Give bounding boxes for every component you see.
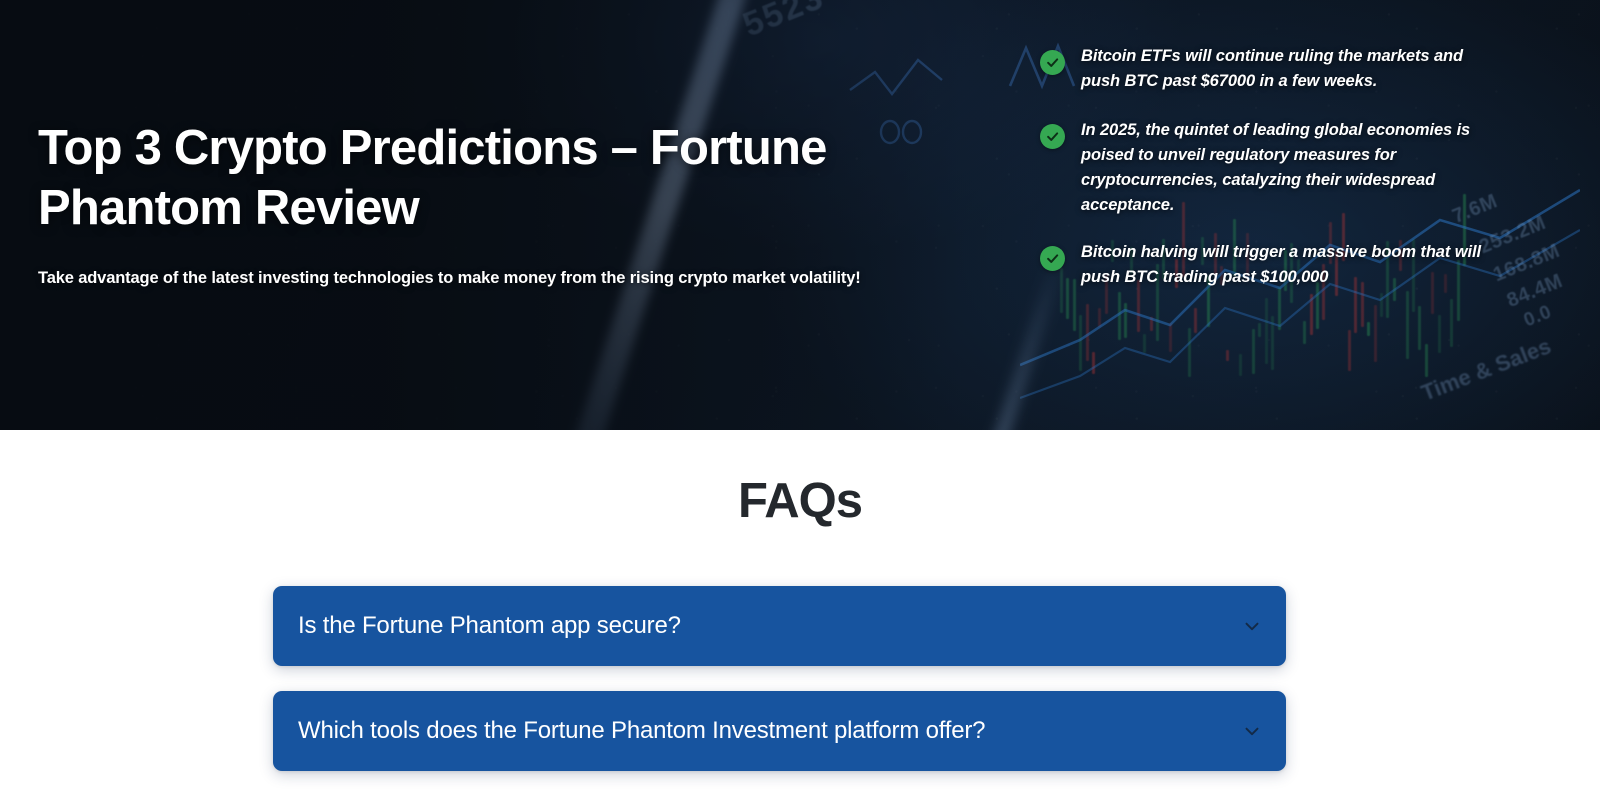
chevron-down-icon[interactable] <box>1239 613 1265 639</box>
check-circle-icon <box>1040 50 1065 75</box>
list-item: Bitcoin ETFs will continue ruling the ma… <box>1040 44 1560 94</box>
chevron-down-icon[interactable] <box>1239 718 1265 744</box>
prediction-text: In 2025, the quintet of leading global e… <box>1081 118 1481 218</box>
faq-accordion: Is the Fortune Phantom app secure? Which… <box>273 586 1286 791</box>
faq-heading: FAQs <box>0 473 1600 529</box>
hero-subtitle: Take advantage of the latest investing t… <box>38 266 998 290</box>
faq-question-label: Is the Fortune Phantom app secure? <box>298 612 1239 640</box>
check-circle-icon <box>1040 246 1065 271</box>
page-title: Top 3 Crypto Predictions – Fortune Phant… <box>38 118 938 238</box>
hero-section: 5523 7.6M 253.2M 168.8M 84.4M 0.0 Time &… <box>0 0 1600 430</box>
faq-accordion-item-1[interactable]: Is the Fortune Phantom app secure? <box>273 586 1286 666</box>
hero-prediction-list: Bitcoin ETFs will continue ruling the ma… <box>1040 44 1560 312</box>
check-circle-icon <box>1040 124 1065 149</box>
faq-section: FAQs Is the Fortune Phantom app secure? … <box>0 430 1600 791</box>
faq-question-label: Which tools does the Fortune Phantom Inv… <box>298 717 1239 745</box>
prediction-text: Bitcoin ETFs will continue ruling the ma… <box>1081 44 1481 94</box>
list-item: Bitcoin halving will trigger a massive b… <box>1040 240 1560 290</box>
faq-accordion-item-2[interactable]: Which tools does the Fortune Phantom Inv… <box>273 691 1286 771</box>
prediction-text: Bitcoin halving will trigger a massive b… <box>1081 240 1481 290</box>
list-item: In 2025, the quintet of leading global e… <box>1040 118 1560 218</box>
